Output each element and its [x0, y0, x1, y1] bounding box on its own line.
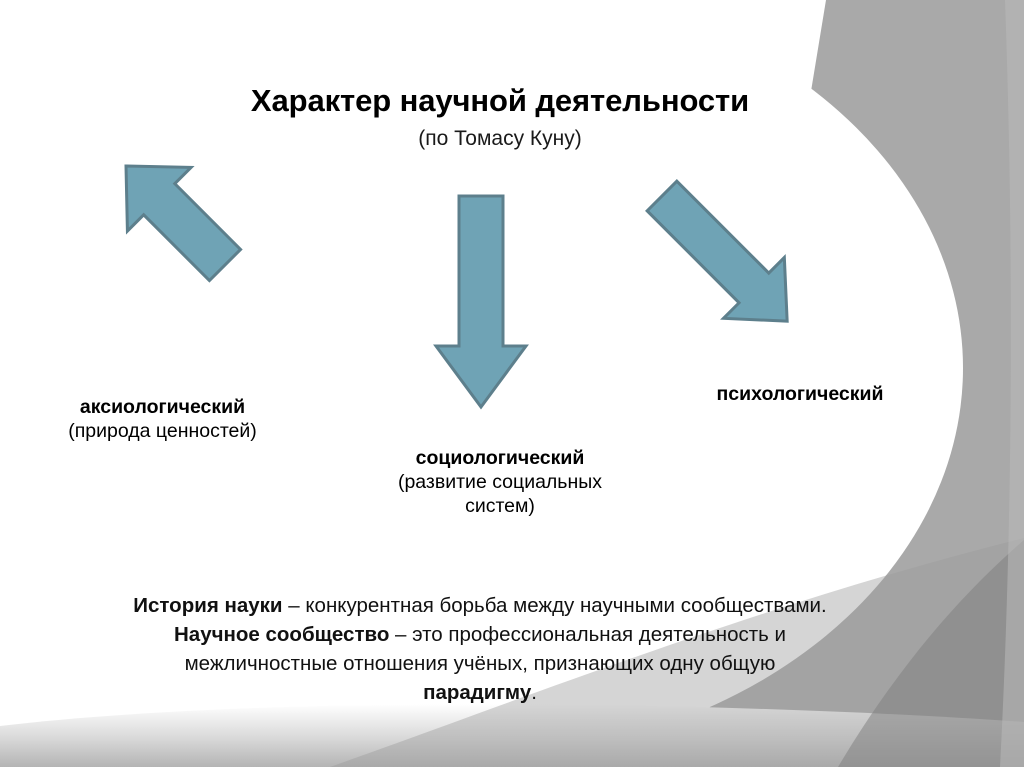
label-axiological: аксиологический (природа ценностей)	[0, 396, 325, 444]
arrow-down-left	[94, 134, 257, 297]
summary-line-1-rest: – конкурентная борьба между научными соо…	[283, 594, 827, 617]
arrow-down-right	[632, 166, 818, 352]
summary-line-4-rest: .	[531, 681, 537, 704]
label-sociological-head: социологический	[340, 447, 660, 471]
label-sociological: социологический (развитие социальных сис…	[340, 447, 660, 518]
summary-line-1-bold: История науки	[133, 594, 282, 617]
label-sociological-sub-line1: (развитие социальных	[340, 471, 660, 495]
summary-line-1: История науки – конкурентная борьба межд…	[40, 591, 920, 620]
title-block: Характер научной деятельности (по Томасу…	[0, 84, 1000, 150]
label-psychological: психологический	[655, 383, 945, 407]
arrow-down	[436, 196, 526, 407]
label-axiological-sub: (природа ценностей)	[0, 420, 325, 444]
label-psychological-head: психологический	[655, 383, 945, 407]
summary-line-2-bold: Научное сообщество	[174, 623, 389, 646]
page-subtitle: (по Томасу Куну)	[0, 127, 1000, 150]
summary-line-4: парадигму.	[40, 678, 920, 707]
summary-paragraph: История науки – конкурентная борьба межд…	[40, 591, 920, 707]
summary-line-2-rest: – это профессиональная деятельность и	[389, 623, 786, 646]
label-axiological-head: аксиологический	[0, 396, 325, 420]
decor-bottom-band	[0, 704, 1024, 767]
summary-line-3: межличностные отношения учёных, признающ…	[40, 649, 920, 678]
summary-line-4-bold: парадигму	[423, 681, 531, 704]
label-sociological-sub-line2: систем)	[340, 495, 660, 519]
decor-right-sliver	[1000, 0, 1024, 767]
page-title: Характер научной деятельности	[0, 84, 1000, 118]
summary-line-2: Научное сообщество – это профессиональна…	[40, 620, 920, 649]
slide-canvas: Характер научной деятельности (по Томасу…	[0, 0, 1024, 767]
